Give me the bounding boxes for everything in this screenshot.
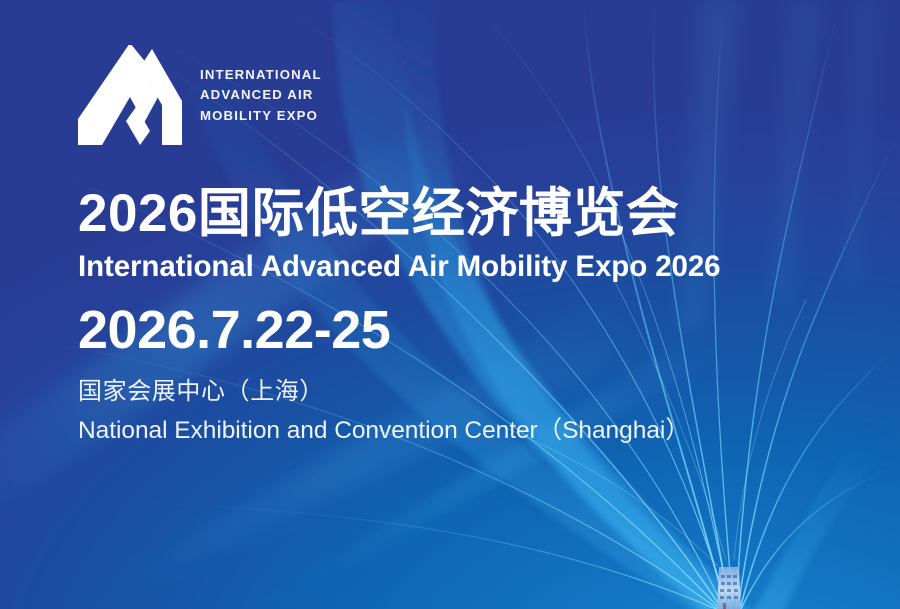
logo-wordmark-line-3: MOBILITY EXPO [200, 107, 322, 124]
event-title-chinese: 2026国际低空经济博览会 [78, 186, 898, 242]
venue-chinese: 国家会展中心（上海） [78, 377, 898, 407]
expo-key-visual-poster: INTERNATIONAL ADVANCED AIR MOBILITY EXPO… [0, 0, 900, 609]
logo-lockup[interactable]: INTERNATIONAL ADVANCED AIR MOBILITY EXPO [78, 45, 322, 145]
double-chevron-m-icon [78, 45, 182, 145]
poster-content: INTERNATIONAL ADVANCED AIR MOBILITY EXPO… [78, 0, 898, 609]
exhibition-tower-icon [712, 563, 746, 609]
venue-english: National Exhibition and Convention Cente… [78, 416, 898, 447]
event-date: 2026.7.22-25 [78, 301, 898, 359]
logo-wordmark-line-2: ADVANCED AIR [200, 86, 322, 103]
event-title-english: International Advanced Air Mobility Expo… [78, 251, 898, 283]
headline-block: 2026国际低空经济博览会 International Advanced Air… [78, 186, 898, 447]
logo-wordmark-line-1: INTERNATIONAL [200, 66, 322, 83]
logo-wordmark: INTERNATIONAL ADVANCED AIR MOBILITY EXPO [200, 66, 322, 124]
